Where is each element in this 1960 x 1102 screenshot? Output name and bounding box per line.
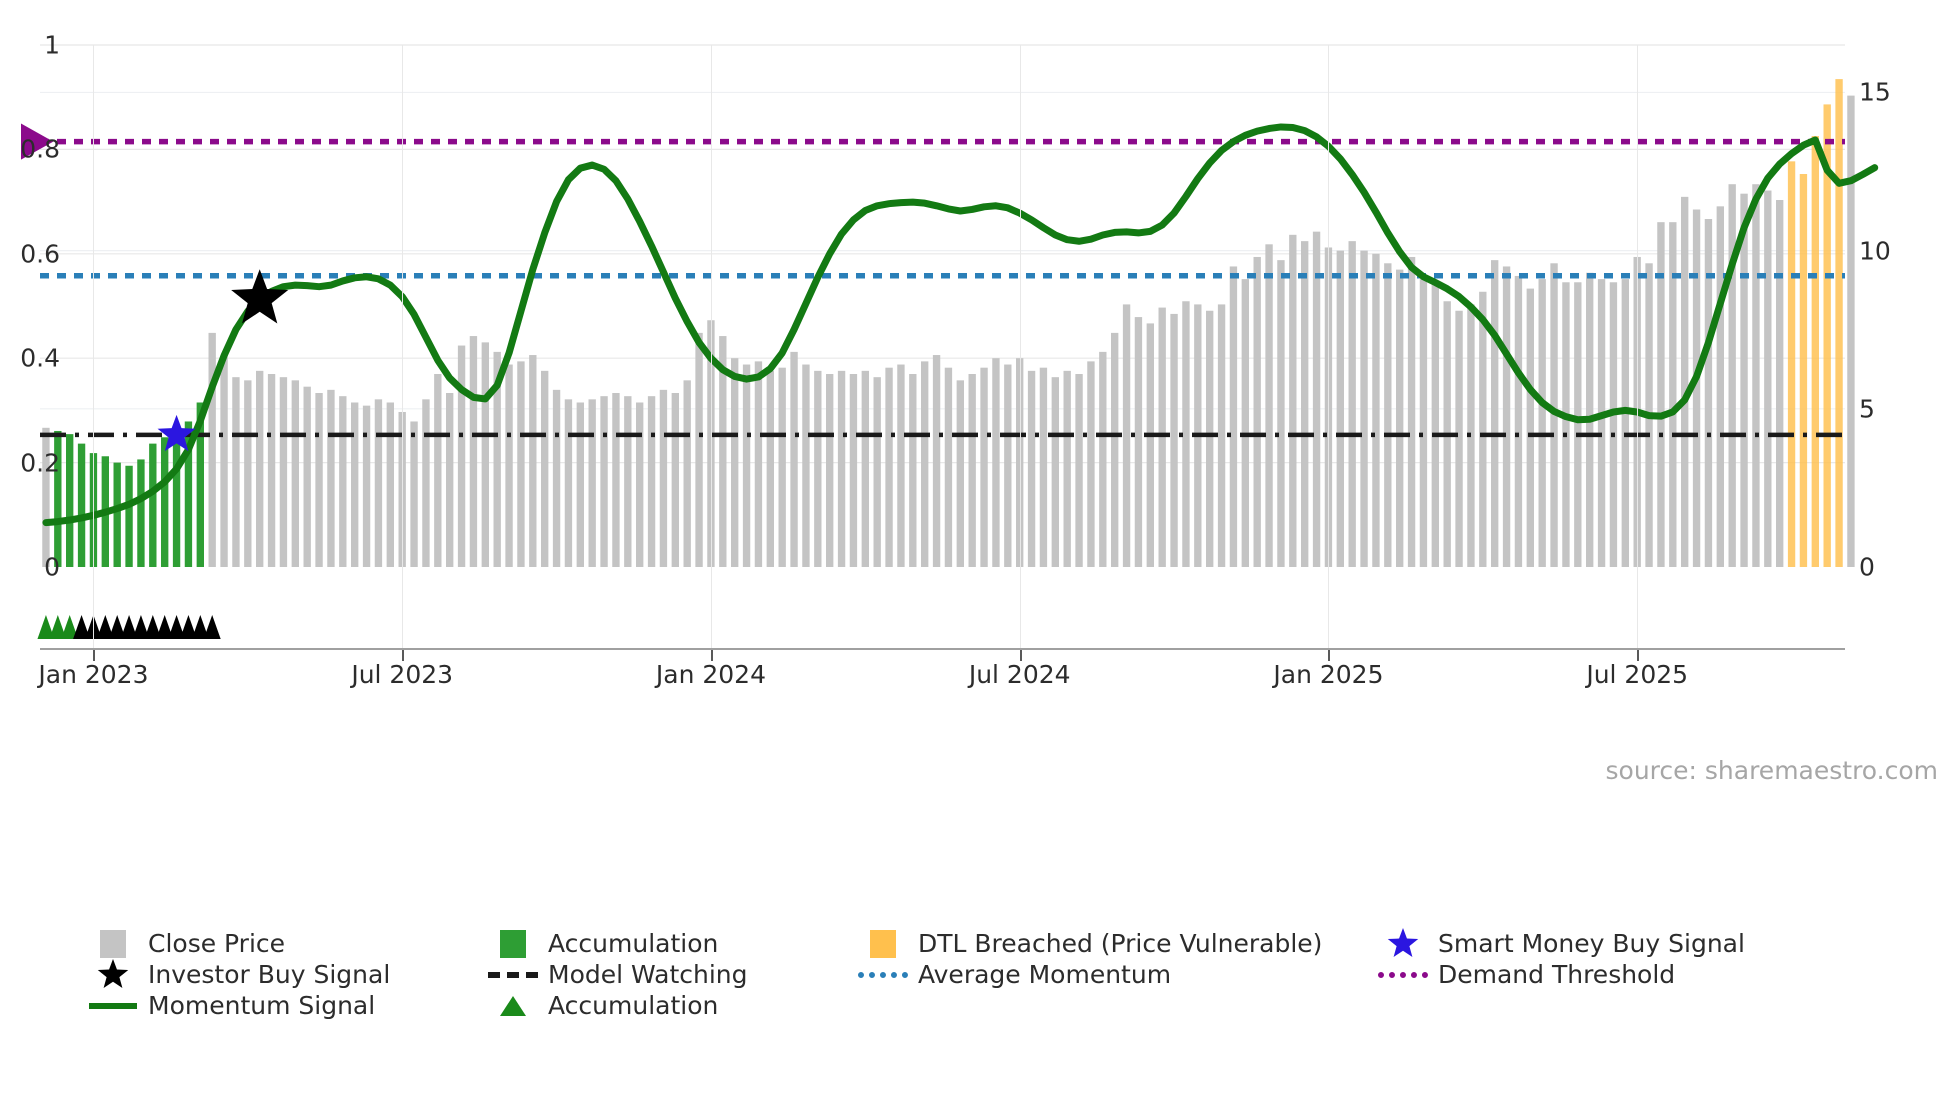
- bar-close_price: [1028, 371, 1035, 567]
- bar-close_price: [1420, 279, 1427, 567]
- chart-canvas: [40, 45, 1845, 567]
- bar-close_price: [1717, 206, 1724, 567]
- bar-close_price: [600, 396, 607, 567]
- bar-close_price: [1491, 260, 1498, 567]
- square-gray-icon: [100, 930, 126, 958]
- bar-close_price: [1099, 352, 1106, 567]
- bar-close_price: [1147, 323, 1154, 567]
- bar-close_price: [327, 390, 334, 567]
- bar-close_price: [1562, 282, 1569, 567]
- triangle-green-icon: [497, 992, 529, 1020]
- x-axis-tick-label: Jan 2023: [38, 660, 148, 689]
- legend-item-smart-money-buy-signal[interactable]: Smart Money Buy Signal: [1374, 928, 1824, 959]
- square-orange-icon: [870, 930, 896, 958]
- dashed-black-line-icon: [484, 960, 542, 990]
- bar-close_price: [1681, 197, 1688, 567]
- solid-green-line-icon: [89, 1003, 137, 1009]
- triangle-green-icon: [484, 991, 542, 1021]
- bar-close_price: [921, 361, 928, 567]
- bar-close_price: [1396, 270, 1403, 567]
- bar-close_price: [244, 380, 251, 567]
- bar-close_price: [612, 393, 619, 567]
- accumulation-triangle-icon: [204, 615, 221, 639]
- bar-close_price: [1040, 368, 1047, 567]
- bar-close_price: [992, 358, 999, 567]
- bar-close_price: [553, 390, 560, 567]
- legend-item-label: Smart Money Buy Signal: [1438, 929, 1745, 958]
- bar-close_price: [897, 365, 904, 567]
- bar-close_price: [232, 377, 239, 567]
- bar-close_price: [458, 346, 465, 567]
- bar-close_price: [565, 399, 572, 567]
- star-blue-icon: [1374, 929, 1432, 959]
- bar-close_price: [1574, 282, 1581, 567]
- bar-close_price: [624, 396, 631, 567]
- bar-close_price: [446, 393, 453, 567]
- legend-item-label: Investor Buy Signal: [148, 960, 390, 989]
- legend-item-accumulation[interactable]: Accumulation: [484, 928, 854, 959]
- bar-close_price: [648, 396, 655, 567]
- x-axis-line: [40, 648, 1845, 650]
- star-black-icon: [84, 960, 142, 990]
- bar-close_price: [755, 361, 762, 567]
- bar-close_price: [1111, 333, 1118, 567]
- bar-close_price: [1135, 317, 1142, 567]
- bar-close_price: [1087, 361, 1094, 567]
- legend-glyph-empty: [854, 991, 912, 1021]
- bar-series-close-price: [42, 79, 1854, 567]
- bar-close_price: [1847, 96, 1854, 567]
- bar-close_price: [1075, 374, 1082, 567]
- bar-close_price: [933, 355, 940, 567]
- square-gray-icon: [84, 929, 142, 959]
- bar-close_price: [577, 402, 584, 567]
- square-green-icon: [484, 929, 542, 959]
- x-axis-tick-label: Jul 2023: [351, 660, 453, 689]
- bar-close_price: [980, 368, 987, 567]
- bar-close_price: [387, 402, 394, 567]
- y-axis-left-tick-label: 0.8: [0, 135, 60, 164]
- bar-close_price: [1729, 184, 1736, 567]
- y-axis-left-tick-label: 0.4: [0, 344, 60, 373]
- bar-close_price: [1479, 292, 1486, 567]
- bar-close_price: [1408, 257, 1415, 567]
- gridline-vertical: [1328, 45, 1329, 648]
- dotted-purple-line-icon: [1378, 972, 1428, 978]
- dotted-blue-line-icon: [858, 972, 908, 978]
- bar-close_price: [909, 374, 916, 567]
- legend-item-empty: [1374, 990, 1824, 1021]
- dashed-black-line-icon: [488, 972, 538, 978]
- bar-close_price: [1752, 184, 1759, 567]
- bar-close_price: [589, 399, 596, 567]
- bar-accumulation: [78, 444, 85, 567]
- legend-glyph-empty: [1374, 991, 1432, 1021]
- bar-close_price: [529, 355, 536, 567]
- bar-dtl_breached: [1800, 174, 1807, 567]
- plot-area: [40, 45, 1845, 567]
- bar-close_price: [672, 393, 679, 567]
- bar-close_price: [1503, 266, 1510, 567]
- bar-close_price: [209, 333, 216, 567]
- bar-close_price: [636, 402, 643, 567]
- bar-close_price: [1230, 266, 1237, 567]
- legend-item-label: Close Price: [148, 929, 285, 958]
- bar-close_price: [945, 368, 952, 567]
- bar-close_price: [862, 371, 869, 567]
- bar-accumulation: [173, 428, 180, 567]
- gridline-vertical: [93, 45, 94, 648]
- bar-close_price: [1598, 279, 1605, 567]
- bar-close_price: [1123, 304, 1130, 567]
- bar-close_price: [790, 352, 797, 567]
- bar-close_price: [957, 380, 964, 567]
- bar-close_price: [1301, 241, 1308, 567]
- legend-item-label: Demand Threshold: [1438, 960, 1675, 989]
- bar-close_price: [1182, 301, 1189, 567]
- bar-close_price: [743, 365, 750, 567]
- bar-close_price: [1064, 371, 1071, 567]
- bar-close_price: [660, 390, 667, 567]
- bar-close_price: [315, 393, 322, 567]
- bar-close_price: [1455, 311, 1462, 567]
- bar-close_price: [1170, 314, 1177, 567]
- legend-item-model-watching[interactable]: Model Watching: [484, 959, 854, 990]
- bar-close_price: [1337, 251, 1344, 567]
- x-axis-tick-label: Jul 2025: [1586, 660, 1688, 689]
- bar-accumulation: [149, 444, 156, 567]
- gridline-vertical: [402, 45, 403, 648]
- legend-item-investor-buy-signal[interactable]: Investor Buy Signal: [84, 959, 484, 990]
- bar-close_price: [1527, 289, 1534, 567]
- legend-item-momentum-signal[interactable]: Momentum Signal: [84, 990, 484, 1021]
- source-attribution: source: sharemaestro.com: [1606, 756, 1939, 785]
- legend-item-label: Average Momentum: [918, 960, 1171, 989]
- bar-close_price: [482, 342, 489, 567]
- bar-close_price: [1740, 194, 1747, 567]
- chart-root: 00.20.40.60.81051015Jan 2023Jul 2023Jan …: [0, 0, 1960, 1102]
- bar-close_price: [339, 396, 346, 567]
- bar-close_price: [541, 371, 548, 567]
- bar-close_price: [375, 399, 382, 567]
- bar-close_price: [1360, 251, 1367, 567]
- bar-close_price: [220, 355, 227, 567]
- legend-item-average-momentum[interactable]: Average Momentum: [854, 959, 1374, 990]
- bar-close_price: [517, 361, 524, 567]
- y-axis-right-tick-label: 0: [1859, 553, 1875, 582]
- bar-close_price: [1242, 279, 1249, 567]
- bar-close_price: [1372, 254, 1379, 567]
- bar-close_price: [767, 371, 774, 567]
- y-axis-left-tick-label: 0.6: [0, 239, 60, 268]
- legend-item-empty: [854, 990, 1374, 1021]
- bar-close_price: [505, 365, 512, 567]
- bar-close_price: [422, 399, 429, 567]
- y-axis-right-tick-label: 15: [1859, 78, 1891, 107]
- legend-item-label: Momentum Signal: [148, 991, 375, 1020]
- bar-close_price: [1313, 232, 1320, 567]
- bar-close_price: [969, 374, 976, 567]
- x-axis-tick-label: Jan 2024: [656, 660, 766, 689]
- legend-item-demand-threshold[interactable]: Demand Threshold: [1374, 959, 1824, 990]
- legend-item-accumulation[interactable]: Accumulation: [484, 990, 854, 1021]
- y-axis-left-tick-label: 0: [0, 553, 60, 582]
- bar-accumulation: [137, 459, 144, 567]
- bar-accumulation: [161, 437, 168, 567]
- bar-close_price: [470, 336, 477, 567]
- bar-close_price: [1218, 304, 1225, 567]
- bar-accumulation: [125, 466, 132, 567]
- star-blue-icon: [1385, 927, 1421, 961]
- gridline-vertical: [1020, 45, 1021, 648]
- bar-close_price: [826, 374, 833, 567]
- bar-accumulation: [114, 463, 121, 567]
- y-axis-left-tick-label: 0.2: [0, 448, 60, 477]
- legend-item-dtl-breached-price-vulnerable[interactable]: DTL Breached (Price Vulnerable): [854, 928, 1374, 959]
- bar-close_price: [1622, 279, 1629, 567]
- bar-close_price: [304, 387, 311, 567]
- bar-close_price: [410, 421, 417, 567]
- bar-dtl_breached: [1812, 136, 1819, 567]
- legend-item-close-price[interactable]: Close Price: [84, 928, 484, 959]
- bar-close_price: [1349, 241, 1356, 567]
- bar-close_price: [850, 374, 857, 567]
- bar-dtl_breached: [1835, 79, 1842, 567]
- dotted-blue-line-icon: [854, 960, 912, 990]
- legend-item-label: DTL Breached (Price Vulnerable): [918, 929, 1322, 958]
- bar-close_price: [256, 371, 263, 567]
- y-axis-right-tick-label: 10: [1859, 236, 1891, 265]
- bar-close_price: [280, 377, 287, 567]
- bar-close_price: [695, 333, 702, 567]
- square-green-icon: [500, 930, 526, 958]
- bar-close_price: [1206, 311, 1213, 567]
- star-black-icon: [95, 958, 131, 992]
- bar-accumulation: [66, 434, 73, 567]
- bar-close_price: [779, 368, 786, 567]
- gridline-vertical: [1637, 45, 1638, 648]
- bar-close_price: [802, 365, 809, 567]
- bar-close_price: [363, 406, 370, 567]
- dotted-purple-line-icon: [1374, 960, 1432, 990]
- bar-close_price: [838, 371, 845, 567]
- bar-close_price: [885, 368, 892, 567]
- y-axis-right-tick-label: 5: [1859, 394, 1875, 423]
- legend-item-label: Accumulation: [548, 929, 718, 958]
- bar-close_price: [684, 380, 691, 567]
- bar-close_price: [1515, 276, 1522, 567]
- bar-close_price: [1254, 257, 1261, 567]
- bar-close_price: [1004, 365, 1011, 567]
- gridline-vertical: [711, 45, 712, 648]
- bar-close_price: [1764, 191, 1771, 567]
- solid-green-line-icon: [84, 991, 142, 1021]
- bar-close_price: [434, 374, 441, 567]
- bar-close_price: [1539, 279, 1546, 567]
- bar-close_price: [1052, 377, 1059, 567]
- bar-close_price: [731, 358, 738, 567]
- legend-item-label: Model Watching: [548, 960, 748, 989]
- bar-close_price: [1159, 308, 1166, 567]
- square-orange-icon: [854, 929, 912, 959]
- bar-dtl_breached: [1788, 161, 1795, 567]
- bar-close_price: [268, 374, 275, 567]
- bar-close_price: [292, 380, 299, 567]
- bar-close_price: [1610, 282, 1617, 567]
- bar-close_price: [1277, 260, 1284, 567]
- bar-close_price: [1384, 263, 1391, 567]
- y-axis-left-tick-label: 1: [0, 31, 60, 60]
- bar-close_price: [1265, 244, 1272, 567]
- chart-legend: Close PriceAccumulationDTL Breached (Pri…: [84, 928, 1924, 1021]
- bar-close_price: [1776, 200, 1783, 567]
- bar-close_price: [814, 371, 821, 567]
- bar-close_price: [1705, 219, 1712, 567]
- x-axis-tick-label: Jan 2025: [1273, 660, 1383, 689]
- bar-close_price: [1289, 235, 1296, 567]
- legend-item-label: Accumulation: [548, 991, 718, 1020]
- bar-close_price: [1432, 282, 1439, 567]
- bar-close_price: [351, 402, 358, 567]
- bar-close_price: [874, 377, 881, 567]
- x-axis-tick-label: Jul 2024: [969, 660, 1071, 689]
